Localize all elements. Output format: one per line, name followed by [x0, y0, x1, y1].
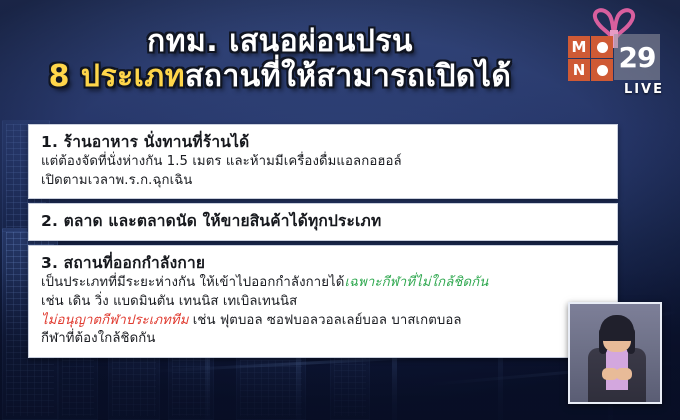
live-badge: LIVE — [624, 82, 664, 97]
logo-letter-n: N — [568, 59, 590, 81]
item-title: 2. ตลาด และตลาดนัด ให้ขายสินค้าได้ทุกประ… — [41, 211, 605, 232]
logo-letter-o-top — [591, 36, 613, 58]
headline-line-2: 8 ประเภทสถานที่ให้สามารถเปิดได้ — [0, 61, 560, 92]
list-item: 3. สถานที่ออกกำลังกาย เป็นประเภทที่มีระย… — [28, 245, 618, 358]
item-detail-line: ไม่อนุญาตกีฬาประเภททีม เช่น ฟุตบอล ซอฟบอ… — [41, 312, 605, 331]
interpreter-hand-right — [616, 368, 632, 380]
logo-o-dot — [597, 65, 608, 76]
sign-language-interpreter-inset — [568, 302, 662, 404]
item-emphasis-red: ไม่อนุญาตกีฬาประเภททีม — [41, 313, 189, 328]
headline-line-2-rest: สถานที่ให้สามารถเปิดได้ — [185, 59, 511, 94]
mono29-logo: M N 29 LIVE — [560, 6, 668, 102]
item-detail-line: เปิดตามเวลาพ.ร.ก.ฉุกเฉิน — [41, 172, 605, 191]
item-title: 1. ร้านอาหาร นั่งทานที่ร้านได้ — [41, 132, 605, 153]
interpreter-hair-top — [600, 315, 634, 341]
broadcast-screen: กทม. เสนอผ่อนปรน 8 ประเภทสถานที่ให้สามาร… — [0, 0, 680, 420]
item-title: 3. สถานที่ออกกำลังกาย — [41, 253, 605, 274]
logo-o-dot — [597, 42, 608, 53]
headline-block: กทม. เสนอผ่อนปรน 8 ประเภทสถานที่ให้สามาร… — [0, 26, 560, 92]
item-detail-line: แต่ต้องจัดที่นั่งห่างกัน 1.5 เมตร และห้า… — [41, 153, 605, 172]
headline-line-1: กทม. เสนอผ่อนปรน — [0, 26, 560, 57]
mono29-wordmark: M N 29 — [568, 36, 660, 82]
item-detail-line: เป็นประเภทที่มีระยะห่างกัน ให้เข้าไปออกก… — [41, 274, 605, 293]
headline-accent-count: 8 ประเภท — [49, 59, 185, 94]
logo-channel-number: 29 — [614, 34, 660, 80]
item-detail-line: เช่น เดิน วิ่ง แบดมินตัน เทนนิส เทเบิลเท… — [41, 293, 605, 312]
logo-letter-m: M — [568, 36, 590, 58]
item-detail-line: กีฬาที่ต้องใกล้ชิดกัน — [41, 330, 605, 349]
info-panel: 1. ร้านอาหาร นั่งทานที่ร้านได้ แต่ต้องจั… — [28, 124, 618, 358]
item-detail-text: เป็นประเภทที่มีระยะห่างกัน ให้เข้าไปออกก… — [41, 275, 344, 290]
item-detail-text: เช่น ฟุตบอล ซอฟบอลวอลเลย์บอล บาสเกตบอล — [189, 313, 462, 328]
list-item: 1. ร้านอาหาร นั่งทานที่ร้านได้ แต่ต้องจั… — [28, 124, 618, 199]
list-item: 2. ตลาด และตลาดนัด ให้ขายสินค้าได้ทุกประ… — [28, 203, 618, 241]
item-emphasis-green: เฉพาะกีฬาที่ไม่ใกล้ชิดกัน — [344, 275, 488, 290]
logo-letter-o-bottom — [591, 59, 613, 81]
